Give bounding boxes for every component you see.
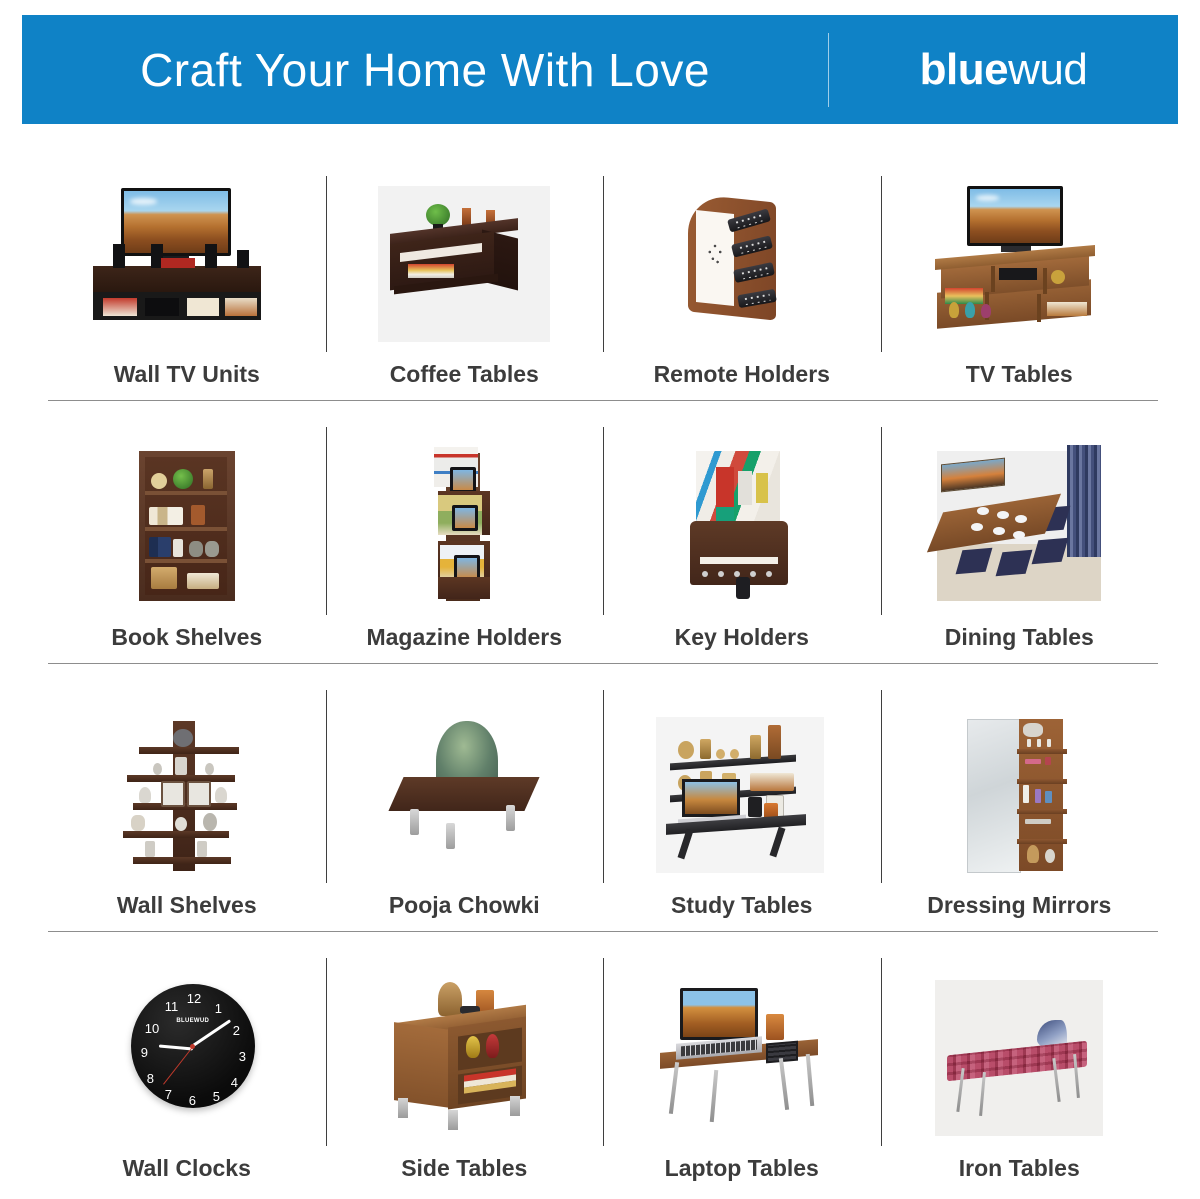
category-label: Study Tables bbox=[671, 884, 812, 931]
category-cell-key-holders[interactable]: Key Holders bbox=[603, 401, 881, 663]
category-label: Pooja Chowki bbox=[389, 884, 540, 931]
category-cell-wall-clocks[interactable]: BLUEWUD 12 1 2 3 4 5 6 7 8 9 10 11 bbox=[48, 932, 326, 1194]
clock-numeral-1: 1 bbox=[215, 1002, 222, 1015]
clock-numeral-12: 12 bbox=[187, 992, 201, 1005]
category-cell-book-shelves[interactable]: Book Shelves bbox=[48, 401, 326, 663]
dining-table-photo bbox=[914, 442, 1124, 612]
logo-text-wud: wud bbox=[1008, 45, 1087, 94]
book-shelf-photo bbox=[82, 442, 292, 612]
category-label: Magazine Holders bbox=[366, 616, 562, 663]
iron-table-photo bbox=[914, 973, 1124, 1143]
category-cell-magazine-holders[interactable]: Magazine Holders bbox=[326, 401, 604, 663]
clock-dial: BLUEWUD 12 1 2 3 4 5 6 7 8 9 10 11 bbox=[131, 984, 255, 1108]
category-cell-study-tables[interactable]: Study Tables bbox=[603, 664, 881, 931]
clock-numeral-7: 7 bbox=[165, 1088, 172, 1101]
category-label: Wall Clocks bbox=[123, 1147, 251, 1194]
wall-shelf-photo bbox=[82, 710, 292, 880]
clock-numeral-9: 9 bbox=[141, 1046, 148, 1059]
category-cell-remote-holders[interactable]: Remote Holders bbox=[603, 150, 881, 400]
header-banner: Craft Your Home With Love bluewud bbox=[22, 15, 1178, 124]
category-label: Remote Holders bbox=[654, 353, 830, 400]
category-cell-wall-tv-units[interactable]: Wall TV Units bbox=[48, 150, 326, 400]
pooja-chowki-photo bbox=[359, 710, 569, 880]
tv-table-photo bbox=[914, 179, 1124, 349]
dressing-mirror-photo bbox=[914, 710, 1124, 880]
key-holder-photo bbox=[637, 442, 847, 612]
category-cell-dining-tables[interactable]: Dining Tables bbox=[881, 401, 1159, 663]
study-table-photo bbox=[637, 710, 847, 880]
magazine-holder-photo bbox=[359, 442, 569, 612]
wall-tv-unit-photo bbox=[82, 179, 292, 349]
clock-brand-label: BLUEWUD bbox=[176, 1018, 209, 1024]
category-label: Laptop Tables bbox=[665, 1147, 819, 1194]
logo-text-blue: blue bbox=[920, 45, 1008, 94]
wall-clock-photo: BLUEWUD 12 1 2 3 4 5 6 7 8 9 10 11 bbox=[82, 973, 292, 1143]
product-category-grid: Wall TV Units Coffee Tables bbox=[48, 150, 1158, 1194]
category-label: Dining Tables bbox=[945, 616, 1094, 663]
category-label: Wall Shelves bbox=[117, 884, 257, 931]
clock-numeral-3: 3 bbox=[239, 1050, 246, 1063]
category-label: Key Holders bbox=[675, 616, 809, 663]
clock-numeral-11: 11 bbox=[165, 1000, 179, 1013]
clock-numeral-2: 2 bbox=[233, 1024, 240, 1037]
category-label: Dressing Mirrors bbox=[927, 884, 1111, 931]
category-row-2: Book Shelves Magazine Holders bbox=[48, 401, 1158, 663]
clock-second-hand bbox=[163, 1046, 193, 1084]
category-cell-laptop-tables[interactable]: Laptop Tables bbox=[603, 932, 881, 1194]
category-label: Iron Tables bbox=[959, 1147, 1080, 1194]
clock-numeral-6: 6 bbox=[189, 1094, 196, 1107]
category-cell-iron-tables[interactable]: Iron Tables bbox=[881, 932, 1159, 1194]
coffee-table-photo bbox=[359, 179, 569, 349]
category-label: TV Tables bbox=[966, 353, 1073, 400]
category-cell-coffee-tables[interactable]: Coffee Tables bbox=[326, 150, 604, 400]
clock-numeral-10: 10 bbox=[145, 1022, 159, 1035]
catalog-page: Craft Your Home With Love bluewud bbox=[0, 0, 1200, 1199]
clock-hour-hand bbox=[159, 1045, 193, 1051]
category-cell-wall-shelves[interactable]: Wall Shelves bbox=[48, 664, 326, 931]
category-row-4: BLUEWUD 12 1 2 3 4 5 6 7 8 9 10 11 bbox=[48, 932, 1158, 1194]
banner-divider bbox=[828, 33, 829, 107]
category-row-3: Wall Shelves Pooja Chowki bbox=[48, 664, 1158, 931]
category-cell-side-tables[interactable]: Side Tables bbox=[326, 932, 604, 1194]
side-table-photo bbox=[359, 973, 569, 1143]
remote-holder-photo bbox=[637, 179, 847, 349]
category-label: Wall TV Units bbox=[114, 353, 260, 400]
clock-numeral-4: 4 bbox=[231, 1076, 238, 1089]
bluewud-logo: bluewud bbox=[829, 48, 1178, 92]
clock-center-pin bbox=[190, 1044, 195, 1049]
category-cell-dressing-mirrors[interactable]: Dressing Mirrors bbox=[881, 664, 1159, 931]
clock-numeral-5: 5 bbox=[213, 1090, 220, 1103]
category-label: Coffee Tables bbox=[390, 353, 539, 400]
category-label: Book Shelves bbox=[111, 616, 262, 663]
banner-tagline: Craft Your Home With Love bbox=[22, 47, 828, 93]
laptop-table-photo bbox=[637, 973, 847, 1143]
category-label: Side Tables bbox=[401, 1147, 527, 1194]
category-cell-tv-tables[interactable]: TV Tables bbox=[881, 150, 1159, 400]
category-row-1: Wall TV Units Coffee Tables bbox=[48, 150, 1158, 400]
clock-numeral-8: 8 bbox=[147, 1072, 154, 1085]
category-cell-pooja-chowki[interactable]: Pooja Chowki bbox=[326, 664, 604, 931]
